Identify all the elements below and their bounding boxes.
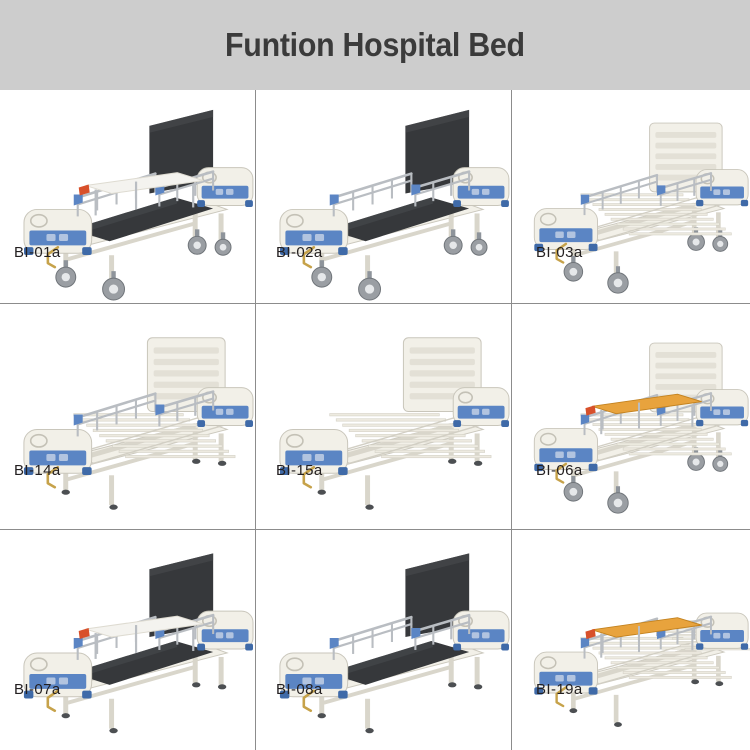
bed-illustration-bi-03a — [512, 90, 750, 303]
product-code-label: BI-03a — [536, 244, 583, 261]
product-cell-4[interactable]: BI-15a — [256, 304, 512, 530]
page-title: Funtion Hospital Bed — [225, 26, 525, 64]
bed-illustration-bi-01a — [0, 90, 255, 303]
product-code-label: BI-07a — [14, 681, 61, 698]
product-cell-5[interactable]: BI-06a — [512, 304, 750, 530]
bed-illustration-bi-14a — [0, 304, 255, 529]
product-code-label: BI-19a — [536, 681, 583, 698]
product-code-label: BI-15a — [276, 462, 323, 479]
product-cell-7[interactable]: BI-08a — [256, 530, 512, 750]
product-cell-8[interactable]: BI-19a — [512, 530, 750, 750]
bed-illustration-bi-07a — [0, 530, 255, 750]
product-code-label: BI-08a — [276, 681, 323, 698]
product-cell-3[interactable]: BI-14a — [0, 304, 256, 530]
product-code-label: BI-14a — [14, 462, 61, 479]
product-code-label: BI-06a — [536, 462, 583, 479]
product-code-label: BI-02a — [276, 244, 323, 261]
bed-illustration-bi-19a — [512, 530, 750, 750]
product-code-label: BI-01a — [14, 244, 61, 261]
bed-illustration-bi-15a — [256, 304, 511, 529]
bed-illustration-bi-08a — [256, 530, 511, 750]
product-catalog-page: Funtion Hospital Bed — [0, 0, 750, 750]
product-cell-2[interactable]: BI-03a — [512, 90, 750, 304]
product-grid: BI-01a — [0, 90, 750, 750]
bed-illustration-bi-02a — [256, 90, 511, 303]
page-header: Funtion Hospital Bed — [0, 0, 750, 90]
product-cell-6[interactable]: BI-07a — [0, 530, 256, 750]
product-cell-1[interactable]: BI-02a — [256, 90, 512, 304]
product-cell-0[interactable]: BI-01a — [0, 90, 256, 304]
bed-illustration-bi-06a — [512, 304, 750, 529]
